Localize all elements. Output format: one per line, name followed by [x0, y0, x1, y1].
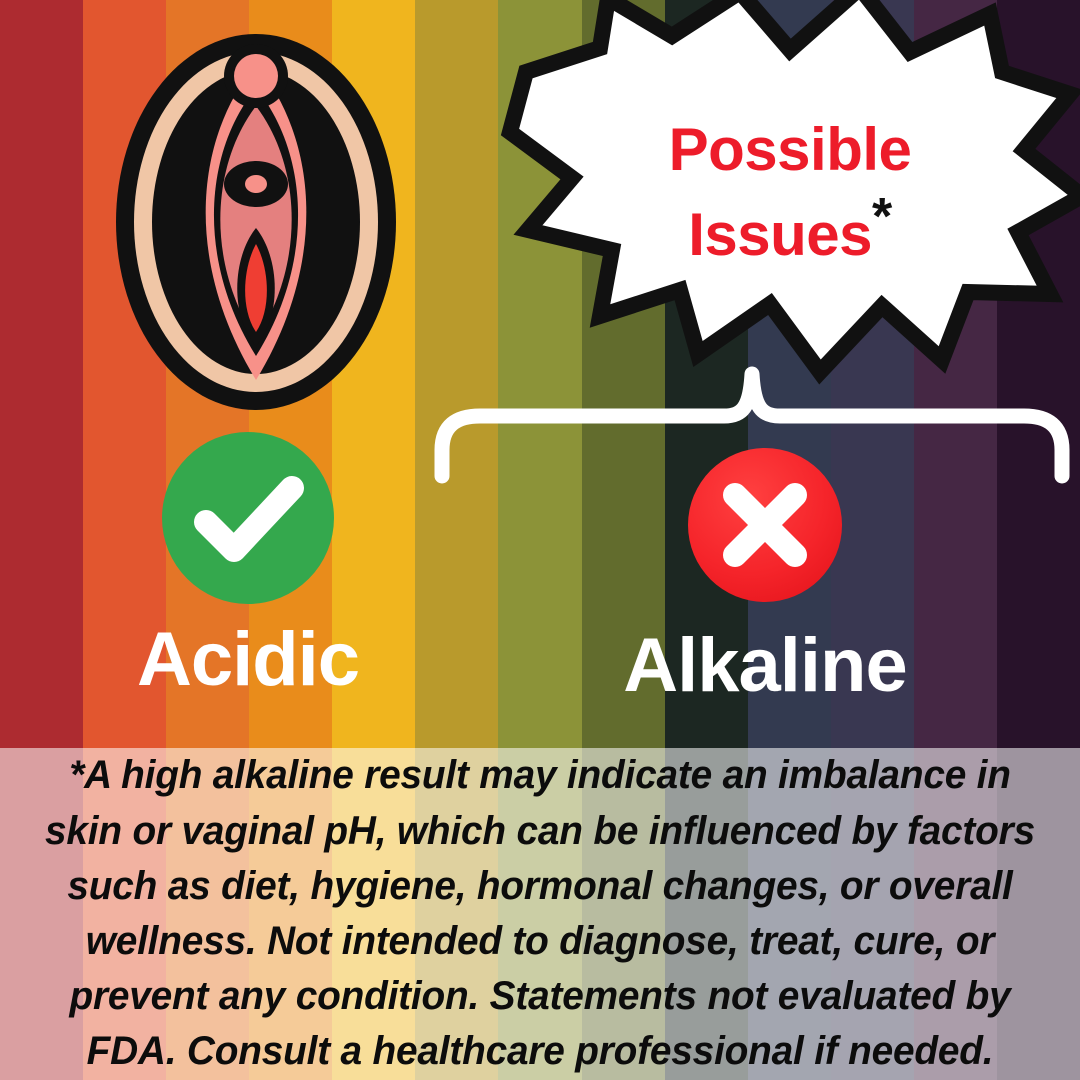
result-acidic-label: Acidic — [137, 622, 359, 698]
disclaimer-panel: *A high alkaline result may indicate an … — [0, 748, 1080, 1080]
result-acidic: Acidic — [128, 432, 368, 698]
check-icon — [162, 432, 334, 604]
possible-issues-callout: Possible Issues* — [490, 0, 1080, 394]
result-alkaline-label: Alkaline — [623, 628, 906, 704]
disclaimer-text: *A high alkaline result may indicate an … — [39, 748, 1042, 1079]
result-alkaline: Alkaline — [620, 448, 910, 704]
ph-test-result-infographic: Possible Issues* Acidic Alkaline *A high… — [0, 0, 1080, 1080]
vulva-icon — [112, 22, 400, 414]
cross-icon — [688, 448, 842, 602]
